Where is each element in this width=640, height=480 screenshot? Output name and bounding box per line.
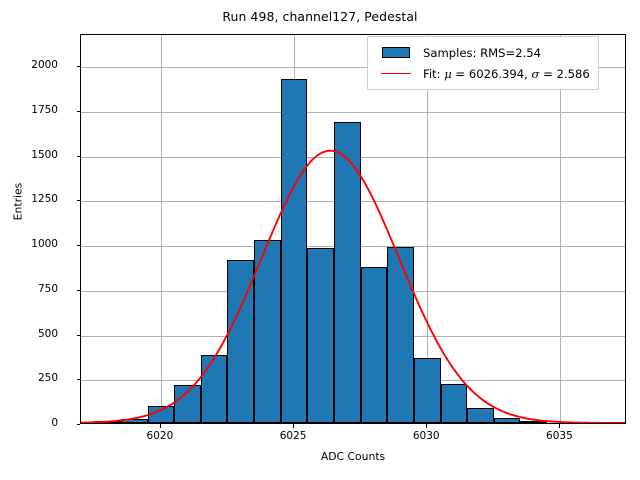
mu-symbol: μ: [444, 67, 452, 81]
y-tick-label: 2000: [31, 59, 58, 71]
y-tick-label: 0: [51, 417, 58, 429]
y-tick-mark: [77, 156, 81, 157]
histogram-bar: [227, 260, 254, 423]
y-tick-label: 500: [38, 328, 58, 340]
y-tick-mark: [77, 66, 81, 67]
y-axis-label: Entries: [12, 122, 25, 282]
legend-line-icon: [375, 73, 417, 75]
x-tick-mark: [293, 424, 294, 428]
histogram-bar: [94, 421, 121, 423]
histogram-bar: [307, 248, 334, 423]
histogram-bar: [174, 385, 201, 423]
histogram-bar: [494, 418, 521, 423]
y-tick-mark: [77, 379, 81, 380]
y-tick-mark: [77, 290, 81, 291]
histogram-bar: [387, 247, 414, 423]
x-tick-label: 6030: [413, 430, 440, 442]
legend-fit-prefix: Fit:: [423, 67, 444, 81]
x-tick-label: 6020: [147, 430, 174, 442]
histogram-bar: [361, 267, 388, 423]
y-tick-mark: [77, 424, 81, 425]
histogram-bar: [414, 358, 441, 423]
x-tick-label: 6025: [280, 430, 307, 442]
page-title: Run 498, channel127, Pedestal: [0, 9, 640, 24]
histogram-bar: [334, 122, 361, 423]
x-tick-label: 6035: [546, 430, 573, 442]
legend-fit-sigma-value: = 2.586: [539, 67, 589, 81]
y-tick-label: 250: [38, 372, 58, 384]
y-tick-mark: [77, 335, 81, 336]
y-tick-label: 1000: [31, 238, 58, 250]
gridline-vertical: [161, 35, 162, 423]
legend-label-samples: Samples: RMS=2.54: [423, 46, 541, 60]
y-tick-mark: [77, 111, 81, 112]
gridline-horizontal: [81, 112, 625, 113]
y-tick-label: 1750: [31, 104, 58, 116]
histogram-bar: [467, 408, 494, 423]
y-tick-label: 750: [38, 283, 58, 295]
histogram-bar: [148, 406, 175, 423]
matplotlib-figure: Run 498, channel127, Pedestal 0250500750…: [0, 0, 640, 480]
legend-item-samples: Samples: RMS=2.54: [375, 42, 590, 63]
y-tick-label: 1500: [31, 149, 58, 161]
y-tick-mark: [77, 200, 81, 201]
gridline-vertical: [560, 35, 561, 423]
y-tick-mark: [77, 245, 81, 246]
histogram-bar: [254, 240, 281, 423]
legend-fit-mu-value: = 6026.394,: [452, 67, 532, 81]
legend-item-fit: Fit: μ = 6026.394, σ = 2.586: [375, 63, 590, 84]
legend: Samples: RMS=2.54 Fit: μ = 6026.394, σ =…: [367, 36, 599, 90]
histogram-bar: [520, 421, 547, 423]
x-tick-mark: [426, 424, 427, 428]
histogram-bar: [121, 419, 148, 423]
x-tick-mark: [160, 424, 161, 428]
legend-patch-icon: [375, 47, 417, 58]
plot-area: [80, 34, 626, 424]
legend-label-fit: Fit: μ = 6026.394, σ = 2.586: [423, 67, 590, 81]
histogram-bar: [201, 355, 228, 423]
y-tick-label: 1250: [31, 193, 58, 205]
x-tick-mark: [559, 424, 560, 428]
histogram-bar: [281, 79, 308, 423]
histogram-bar: [441, 384, 468, 423]
x-axis-label: ADC Counts: [80, 450, 626, 463]
